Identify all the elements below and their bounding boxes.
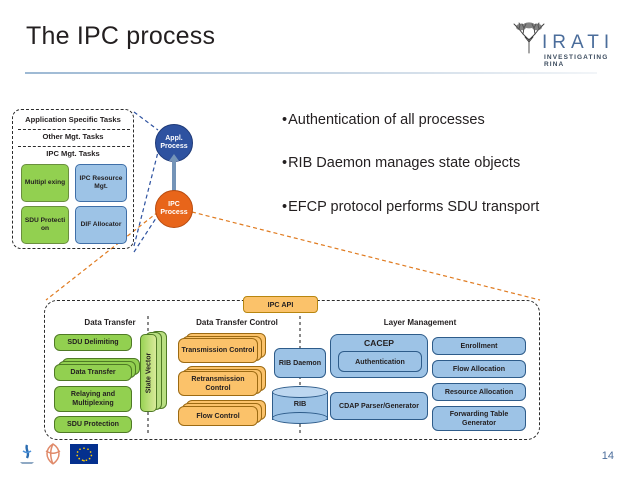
ipc-api-label[interactable]: IPC API bbox=[243, 296, 318, 313]
task-section-ipc-mgt: IPC Mgt. Tasks bbox=[13, 149, 133, 158]
node-rib-daemon[interactable]: RIB Daemon bbox=[274, 348, 326, 378]
bullet-item: •Authentication of all processes bbox=[282, 112, 632, 129]
node-retransmission-control[interactable]: Retransmission Control bbox=[178, 371, 258, 396]
node-flow-allocation[interactable]: Flow Allocation bbox=[432, 360, 526, 378]
node-sdu-protection[interactable]: SDU Protection bbox=[54, 416, 132, 433]
task-section-application: Application Specific Tasks bbox=[13, 115, 133, 124]
task-divider-1 bbox=[18, 129, 130, 130]
column-title-data-transfer: Data Transfer bbox=[55, 318, 165, 327]
node-rib[interactable]: RIB bbox=[272, 386, 328, 424]
node-flow-control[interactable]: Flow Control bbox=[178, 406, 258, 426]
node-cdap-parser-generator[interactable]: CDAP Parser/Generator bbox=[330, 392, 428, 420]
bullet-text: EFCP protocol performs SDU transport bbox=[288, 199, 539, 215]
column-title-layer-management: Layer Management bbox=[340, 318, 500, 327]
state-vector-label: State Vector bbox=[145, 353, 152, 393]
rib-cylinder-bottom bbox=[272, 412, 328, 424]
bullet-item: •RIB Daemon manages state objects bbox=[282, 155, 632, 172]
node-forwarding-table-generator[interactable]: Forwarding Table Generator bbox=[432, 406, 526, 431]
bullet-list: •Authentication of all processes •RIB Da… bbox=[282, 112, 632, 242]
task-box-sdu-protection[interactable]: SDU Protecti on bbox=[21, 206, 69, 244]
institution-logo-icon bbox=[14, 442, 40, 466]
task-divider-2 bbox=[18, 146, 130, 147]
eu-flag-icon bbox=[70, 444, 98, 464]
node-cacep[interactable]: CACEP Authentication bbox=[330, 334, 428, 378]
node-sdu-delimiting[interactable]: SDU Delimiting bbox=[54, 334, 132, 351]
task-section-other-mgt: Other Mgt. Tasks bbox=[13, 132, 133, 141]
title-divider bbox=[25, 72, 597, 74]
node-resource-allocation[interactable]: Resource Allocation bbox=[432, 383, 526, 401]
cacep-label: CACEP bbox=[331, 338, 427, 348]
partner-logo-icon bbox=[42, 442, 64, 466]
node-relaying-multiplexing[interactable]: Relaying and Multiplexing bbox=[54, 386, 132, 412]
rib-cylinder-top bbox=[272, 386, 328, 398]
irati-logo: IRATI INVESTIGATING RINA bbox=[502, 22, 630, 66]
node-authentication[interactable]: Authentication bbox=[338, 351, 422, 372]
node-enrollment[interactable]: Enrollment bbox=[432, 337, 526, 355]
task-box-ipc-resource-mgt[interactable]: IPC Resource Mgt. bbox=[75, 164, 127, 202]
rib-label: RIB bbox=[272, 399, 328, 408]
logo-subtitle: INVESTIGATING RINA bbox=[544, 54, 630, 68]
bullet-text: RIB Daemon manages state objects bbox=[288, 155, 520, 171]
node-transmission-control[interactable]: Transmission Control bbox=[178, 338, 258, 363]
page-number: 14 bbox=[602, 450, 614, 462]
task-box-multiplexing[interactable]: Multipl exing bbox=[21, 164, 69, 202]
ipc-process-circle[interactable]: IPC Process bbox=[155, 190, 193, 228]
state-vector[interactable]: State Vector bbox=[140, 334, 157, 412]
page-title: The IPC process bbox=[26, 22, 215, 51]
process-tasks-box: Application Specific Tasks Other Mgt. Ta… bbox=[12, 109, 134, 249]
task-box-dif-allocator[interactable]: DIF Allocator bbox=[75, 206, 127, 244]
process-link-arrow bbox=[172, 160, 176, 192]
node-data-transfer[interactable]: Data Transfer bbox=[54, 364, 132, 381]
bullet-text: Authentication of all processes bbox=[288, 112, 485, 128]
tree-icon bbox=[512, 22, 546, 54]
column-title-data-transfer-control: Data Transfer Control bbox=[172, 318, 302, 327]
slide: The IPC process IRATI INVESTIGATING RINA bbox=[0, 0, 638, 479]
logo-wordmark: IRATI bbox=[542, 32, 614, 54]
footer-logos bbox=[14, 442, 106, 468]
bullet-item: •EFCP protocol performs SDU transport bbox=[282, 199, 632, 216]
